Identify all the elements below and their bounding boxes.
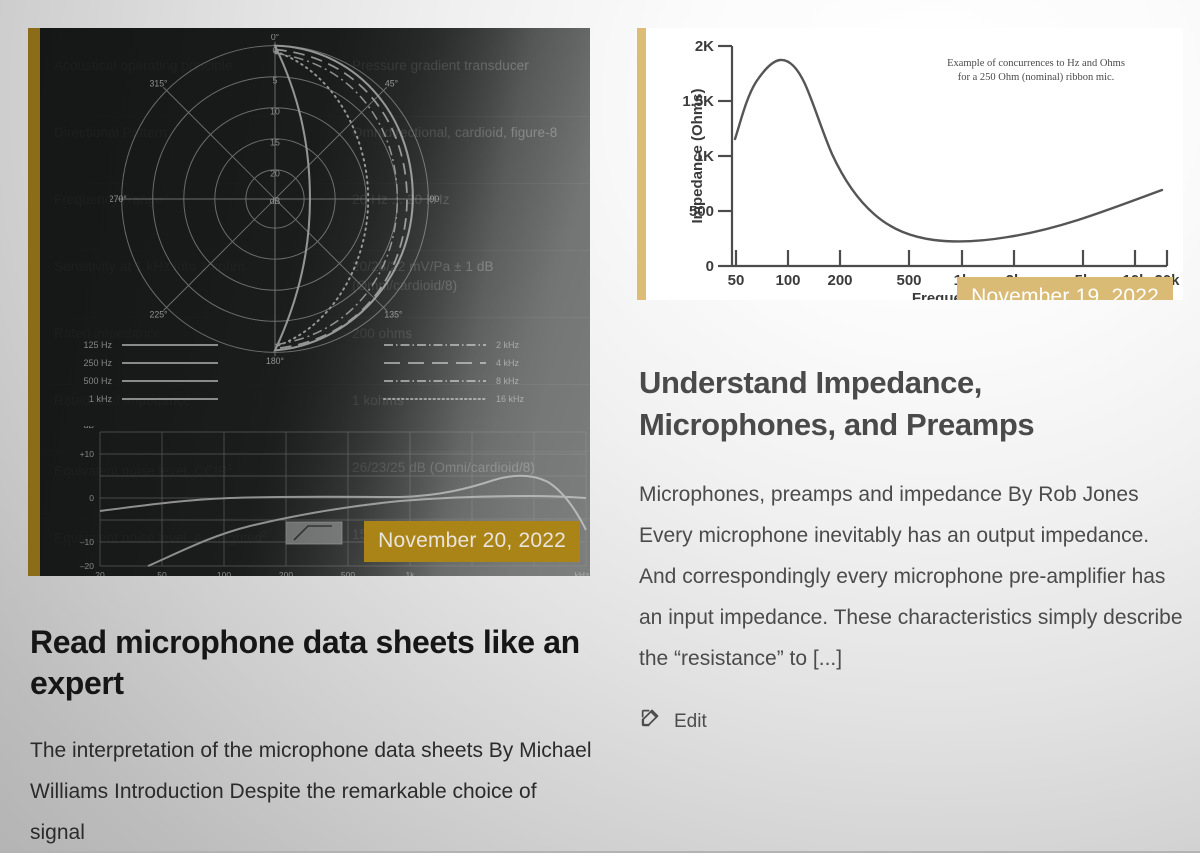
svg-text:dB: dB (270, 196, 281, 206)
svg-text:1k: 1k (406, 570, 416, 576)
svg-text:0: 0 (706, 258, 714, 275)
svg-text:10: 10 (270, 107, 280, 117)
accent-bar-right (637, 28, 646, 300)
post-date-badge: November 19, 2022 (957, 277, 1173, 300)
svg-text:135°: 135° (384, 309, 402, 319)
svg-text:0°: 0° (271, 34, 279, 42)
svg-text:16 kHz: 16 kHz (496, 394, 525, 404)
post-grid: Acoustical operating principle Pressure … (0, 0, 1200, 851)
svg-text:100: 100 (775, 272, 800, 289)
svg-text:1 kHz: 1 kHz (89, 394, 113, 404)
svg-text:270°: 270° (110, 194, 127, 204)
svg-text:8 kHz: 8 kHz (496, 376, 520, 386)
post-excerpt: Microphones, preamps and impedance By Ro… (639, 474, 1190, 679)
post-card-understand-impedance[interactable]: 0 500 1K 1.5K 2K (604, 0, 1200, 851)
svg-text:15: 15 (270, 138, 280, 148)
post-title[interactable]: Read microphone data sheets like an expe… (30, 622, 600, 704)
edit-link-label: Edit (674, 712, 707, 731)
impedance-chart: 0 500 1K 1.5K 2K (646, 28, 1183, 300)
svg-text:315°: 315° (150, 78, 168, 88)
svg-text:90°: 90° (430, 194, 440, 204)
svg-text:–10: –10 (80, 537, 94, 547)
svg-text:2K: 2K (695, 38, 714, 55)
svg-text:50: 50 (728, 272, 745, 289)
svg-text:225°: 225° (150, 309, 168, 319)
post-excerpt: The interpretation of the microphone dat… (30, 730, 596, 853)
edit-pencil-icon (639, 707, 661, 735)
svg-text:200: 200 (827, 272, 852, 289)
datasheet-artwork: Acoustical operating principle Pressure … (40, 28, 590, 576)
post-date-badge: November 20, 2022 (364, 521, 580, 562)
svg-text:125 Hz: 125 Hz (83, 340, 112, 350)
svg-text:+10: +10 (80, 449, 95, 459)
post-title[interactable]: Understand Impedance, Microphones, and P… (639, 362, 1169, 446)
svg-text:2 kHz: 2 kHz (496, 340, 520, 350)
post-thumbnail-impedance-chart[interactable]: 0 500 1K 1.5K 2K (637, 28, 1183, 300)
chart-annotation-line1: Example of concurrences to Hz and Ohms (947, 58, 1125, 69)
svg-text:20: 20 (95, 570, 105, 576)
svg-text:50: 50 (157, 570, 167, 576)
chart-annotation-line2: for a 250 Ohm (nominal) ribbon mic. (958, 72, 1115, 83)
svg-text:100: 100 (217, 570, 231, 576)
svg-text:200: 200 (279, 570, 293, 576)
chart-ylabel: Impedance (Ohms) (689, 88, 706, 223)
polar-pattern-diagram: 0° 45° 90° 135° 180° 225° 270° 315° 0 5 … (110, 34, 440, 364)
svg-text:45°: 45° (385, 78, 398, 88)
accent-bar-left (28, 28, 40, 576)
svg-text:0: 0 (89, 493, 94, 503)
svg-text:dB: dB (84, 426, 95, 430)
svg-text:500: 500 (341, 570, 355, 576)
edit-post-link[interactable]: Edit (639, 707, 707, 735)
svg-text:500 Hz: 500 Hz (83, 376, 112, 386)
impedance-chart-svg: 0 500 1K 1.5K 2K (646, 28, 1183, 300)
svg-text:5: 5 (273, 76, 278, 86)
post-thumbnail-datasheet[interactable]: Acoustical operating principle Pressure … (28, 28, 590, 576)
svg-text:–20: –20 (80, 561, 94, 571)
svg-text:20: 20 (270, 169, 280, 179)
frequency-legend: 125 Hz 250 Hz 500 Hz 1 kHz 2 kHz 4 kHz 8… (66, 336, 590, 420)
svg-text:250 Hz: 250 Hz (83, 358, 112, 368)
post-card-read-microphone-data-sheets[interactable]: Acoustical operating principle Pressure … (0, 0, 604, 851)
svg-text:kHz: kHz (575, 570, 590, 576)
svg-text:4 kHz: 4 kHz (496, 358, 520, 368)
svg-text:500: 500 (896, 272, 921, 289)
